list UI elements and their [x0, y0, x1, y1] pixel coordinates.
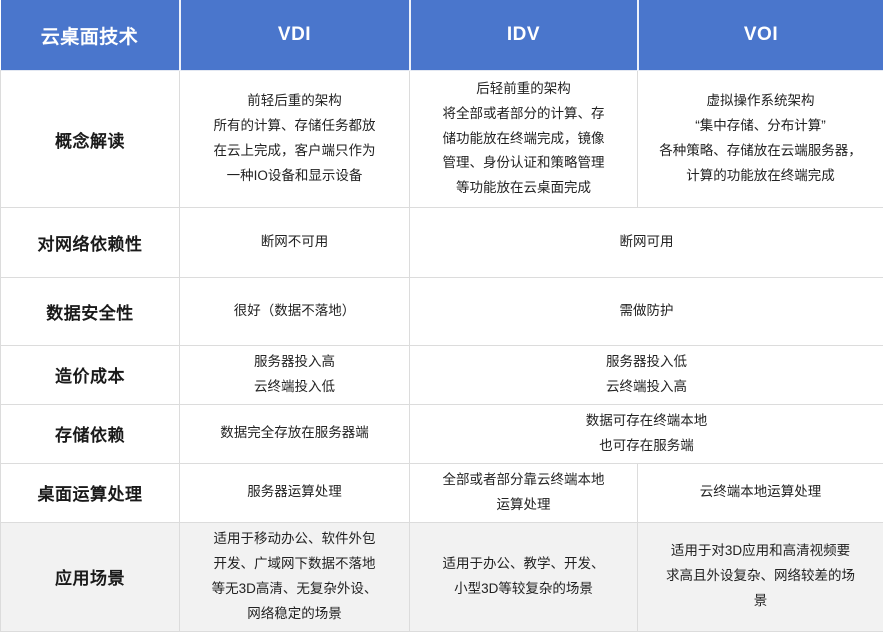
- table-row: 应用场景适用于移动办公、软件外包开发、广域网下数据不落地等无3D高清、无复杂外设…: [1, 522, 883, 631]
- cell-voi: 虚拟操作系统架构“集中存储、分布计算”各种策略、存储放在云端服务器，计算的功能放…: [638, 71, 883, 208]
- cell-line: 服务器投入低: [424, 350, 869, 375]
- cell-line: 适用于办公、教学、开发、: [424, 552, 623, 577]
- cell-line: 等功能放在云桌面完成: [424, 176, 623, 201]
- cell-vdi: 数据完全存放在服务器端: [180, 404, 410, 463]
- cell-line: 所有的计算、存储任务都放: [194, 114, 395, 139]
- cell-line: 云终端本地运算处理: [652, 480, 869, 505]
- cell-idv-voi-merged: 数据可存在终端本地也可存在服务端: [410, 404, 883, 463]
- cell-line: 云终端投入低: [194, 375, 395, 400]
- cell-line: 网络稳定的场景: [194, 602, 395, 627]
- table-body: 概念解读前轻后重的架构所有的计算、存储任务都放在云上完成，客户端只作为一种IO设…: [1, 71, 883, 632]
- table-header: 云桌面技术 VDI IDV VOI: [1, 0, 883, 71]
- cell-line: “集中存储、分布计算”: [652, 114, 869, 139]
- cell-line: 等无3D高清、无复杂外设、: [194, 577, 395, 602]
- cell-line: 断网可用: [424, 230, 869, 255]
- cell-vdi: 服务器投入高云终端投入低: [180, 346, 410, 405]
- cloud-desktop-comparison-table: 云桌面技术 VDI IDV VOI 概念解读前轻后重的架构所有的计算、存储任务都…: [0, 0, 883, 632]
- header-voi: VOI: [638, 0, 883, 71]
- header-vdi: VDI: [180, 0, 410, 71]
- cell-line: 各种策略、存储放在云端服务器，: [652, 139, 869, 164]
- cell-line: 前轻后重的架构: [194, 89, 395, 114]
- cell-line: 服务器投入高: [194, 350, 395, 375]
- cell-line: 虚拟操作系统架构: [652, 89, 869, 114]
- header-topic: 云桌面技术: [1, 0, 180, 71]
- row-label: 存储依赖: [1, 404, 180, 463]
- cell-line: 开发、广域网下数据不落地: [194, 552, 395, 577]
- row-label: 对网络依赖性: [1, 208, 180, 278]
- cell-line: 一种IO设备和显示设备: [194, 164, 395, 189]
- table-row: 桌面运算处理服务器运算处理全部或者部分靠云终端本地运算处理云终端本地运算处理: [1, 463, 883, 522]
- cell-line: 全部或者部分靠云终端本地: [424, 468, 623, 493]
- table-row: 对网络依赖性断网不可用断网可用: [1, 208, 883, 278]
- cell-line: 在云上完成，客户端只作为: [194, 139, 395, 164]
- cell-line: 求高且外设复杂、网络较差的场: [652, 564, 869, 589]
- cell-voi: 适用于对3D应用和高清视频要求高且外设复杂、网络较差的场景: [638, 522, 883, 631]
- cell-line: 数据可存在终端本地: [424, 409, 869, 434]
- cell-line: 小型3D等较复杂的场景: [424, 577, 623, 602]
- table-row: 数据安全性很好（数据不落地）需做防护: [1, 278, 883, 346]
- cell-idv-voi-merged: 需做防护: [410, 278, 883, 346]
- row-label: 桌面运算处理: [1, 463, 180, 522]
- row-label: 概念解读: [1, 71, 180, 208]
- cell-vdi: 很好（数据不落地）: [180, 278, 410, 346]
- table-row: 概念解读前轻后重的架构所有的计算、存储任务都放在云上完成，客户端只作为一种IO设…: [1, 71, 883, 208]
- cell-vdi: 断网不可用: [180, 208, 410, 278]
- cell-line: 计算的功能放在终端完成: [652, 164, 869, 189]
- cell-idv: 适用于办公、教学、开发、小型3D等较复杂的场景: [410, 522, 638, 631]
- row-label: 造价成本: [1, 346, 180, 405]
- cell-vdi: 服务器运算处理: [180, 463, 410, 522]
- cell-line: 适用于对3D应用和高清视频要: [652, 539, 869, 564]
- cell-idv-voi-merged: 断网可用: [410, 208, 883, 278]
- cell-line: 管理、身份认证和策略管理: [424, 151, 623, 176]
- cell-line: 储功能放在终端完成，镜像: [424, 127, 623, 152]
- cell-line: 后轻前重的架构: [424, 77, 623, 102]
- row-label: 应用场景: [1, 522, 180, 631]
- cell-idv: 全部或者部分靠云终端本地运算处理: [410, 463, 638, 522]
- cell-line: 云终端投入高: [424, 375, 869, 400]
- cell-line: 数据完全存放在服务器端: [194, 421, 395, 446]
- cell-line: 也可存在服务端: [424, 434, 869, 459]
- cell-line: 很好（数据不落地）: [194, 299, 395, 324]
- cell-line: 运算处理: [424, 493, 623, 518]
- table-row: 存储依赖数据完全存放在服务器端数据可存在终端本地也可存在服务端: [1, 404, 883, 463]
- row-label: 数据安全性: [1, 278, 180, 346]
- cell-line: 将全部或者部分的计算、存: [424, 102, 623, 127]
- header-row: 云桌面技术 VDI IDV VOI: [1, 0, 883, 71]
- cell-idv-voi-merged: 服务器投入低云终端投入高: [410, 346, 883, 405]
- cell-line: 需做防护: [424, 299, 869, 324]
- cell-line: 服务器运算处理: [194, 480, 395, 505]
- cell-idv: 后轻前重的架构将全部或者部分的计算、存储功能放在终端完成，镜像管理、身份认证和策…: [410, 71, 638, 208]
- cell-line: 适用于移动办公、软件外包: [194, 527, 395, 552]
- table-row: 造价成本服务器投入高云终端投入低服务器投入低云终端投入高: [1, 346, 883, 405]
- cell-line: 断网不可用: [194, 230, 395, 255]
- header-idv: IDV: [410, 0, 638, 71]
- cell-line: 景: [652, 589, 869, 614]
- cell-vdi: 前轻后重的架构所有的计算、存储任务都放在云上完成，客户端只作为一种IO设备和显示…: [180, 71, 410, 208]
- cell-vdi: 适用于移动办公、软件外包开发、广域网下数据不落地等无3D高清、无复杂外设、网络稳…: [180, 522, 410, 631]
- cell-voi: 云终端本地运算处理: [638, 463, 883, 522]
